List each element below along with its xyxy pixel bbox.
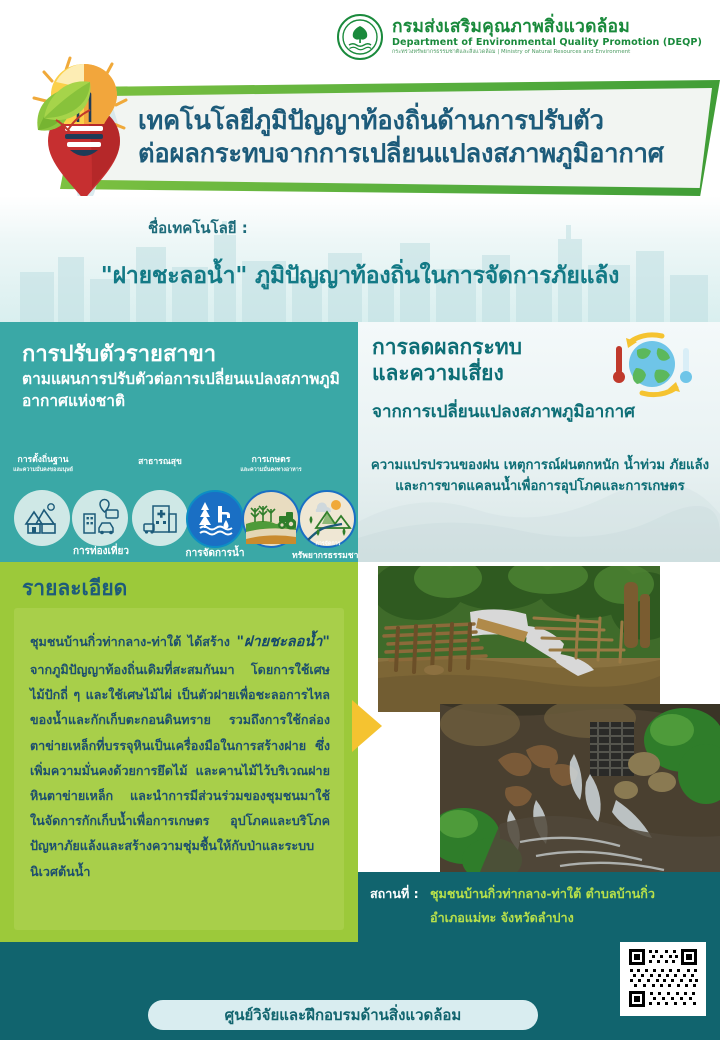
stream-gabion-check-dam-photo <box>440 704 720 872</box>
org-name-th: กรมส่งเสริมคุณภาพสิ่งแวดล้อม <box>392 18 702 36</box>
details-text-part2: จากภูมิปัญญาท้องถิ่นเดิมที่สะสมกันมา โดย… <box>30 662 330 879</box>
technology-name-label: ชื่อเทคโนโลยี : <box>148 216 248 240</box>
location-line2: อำเภอแม่ทะ จังหวัดลำปาง <box>430 908 574 928</box>
org-name-en: Department of Environmental Quality Prom… <box>392 38 702 48</box>
thermometer-cold-icon <box>680 348 692 383</box>
location-line1: ชุมชนบ้านกิ่วท่ากลาง-ท่าใต้ ตำบลบ้านกิ่ว <box>430 884 655 904</box>
location-label: สถานที่ : <box>370 884 419 904</box>
tree-water-circle-logo-icon <box>337 14 383 60</box>
qr-code-icon[interactable] <box>620 942 706 1016</box>
title-white-shape: เทคโนโลยีภูมิปัญญาท้องถิ่นด้านการปรับตัว… <box>96 88 712 188</box>
thermometer-hot-icon <box>613 346 625 383</box>
deqp-text-block: กรมส่งเสริมคุณภาพสิ่งแวดล้อม Department … <box>392 18 702 56</box>
sector-label-tourism: การท่องเที่ยว <box>62 544 140 559</box>
mitigation-heading: การลดผลกระทบ และความเสี่ยง <box>372 334 572 387</box>
mitigation-subheading: จากการเปลี่ยนแปลงสภาพภูมิอากาศ <box>372 398 635 425</box>
sector-label-water-management: การจัดการน้ำ <box>178 546 252 561</box>
sector-label-agriculture: การเกษตร และความมั่นคงทางอาหาร <box>228 452 314 474</box>
sector-icon-tourism-city-car-icon[interactable] <box>72 490 128 546</box>
ministry-line: กระทรวงทรัพยากรธรรมชาติและสิ่งแวดล้อม | … <box>392 50 702 56</box>
sector-label-public-health: สาธารณสุข <box>118 454 202 468</box>
footer-cta-label: ศูนย์วิจัยและฝึกอบรมด้านสิ่งแวดล้อม <box>225 1003 462 1027</box>
sector-icon-public-health-hospital-icon[interactable] <box>132 490 188 546</box>
sector-icon-water-management-tap-icon[interactable] <box>186 490 244 548</box>
adaptation-subheading: ตามแผนการปรับตัวต่อการเปลี่ยนแปลงสภาพภูม… <box>22 368 352 413</box>
lightbulb-leaf-map-pin-icon <box>8 48 160 216</box>
details-text-part1: ชุมชนบ้านกิ่วท่ากลาง-ท่าใต้ ได้สร้าง <box>30 634 236 649</box>
globe-thermometer-icon <box>606 330 698 402</box>
sector-icon-row: การตั้งถิ่นฐาน และความมั่นคงของมนุษย์ กา… <box>0 452 358 560</box>
sector-label-settlement: การตั้งถิ่นฐาน และความมั่นคงของมนุษย์ <box>0 452 86 474</box>
poster-root: กรมส่งเสริมคุณภาพสิ่งแวดล้อม Department … <box>0 0 720 1040</box>
page-title-line2: ต่อผลกระทบจากการเปลี่ยนแปลงสภาพภูมิอากาศ <box>138 139 712 170</box>
mitigation-body: ความแปรปรวนของฝน เหตุการณ์ฝนตกหนัก น้ำท่… <box>366 455 714 498</box>
details-body: ชุมชนบ้านกิ่วท่ากลาง-ท่าใต้ ได้สร้าง "ฝา… <box>30 628 330 884</box>
deqp-logo: กรมส่งเสริมคุณภาพสิ่งแวดล้อม Department … <box>337 14 702 60</box>
sector-icon-settlement-houses-icon[interactable] <box>14 490 70 546</box>
technology-name-value: "ฝายชะลอน้ำ" ภูมิปัญญาท้องถิ่นในการจัดกา… <box>0 258 720 294</box>
details-title: รายละเอียด <box>22 572 127 605</box>
footer-cta-button[interactable]: ศูนย์วิจัยและฝึกอบรมด้านสิ่งแวดล้อม <box>148 1000 538 1030</box>
adaptation-heading: การปรับตัวรายสาขา <box>22 336 216 371</box>
details-highlight: "ฝายชะลอน้ำ" <box>236 634 330 650</box>
check-dam-wooden-weir-photo <box>378 566 660 712</box>
page-title-line1: เทคโนโลยีภูมิปัญญาท้องถิ่นด้านการปรับตัว <box>138 106 712 137</box>
